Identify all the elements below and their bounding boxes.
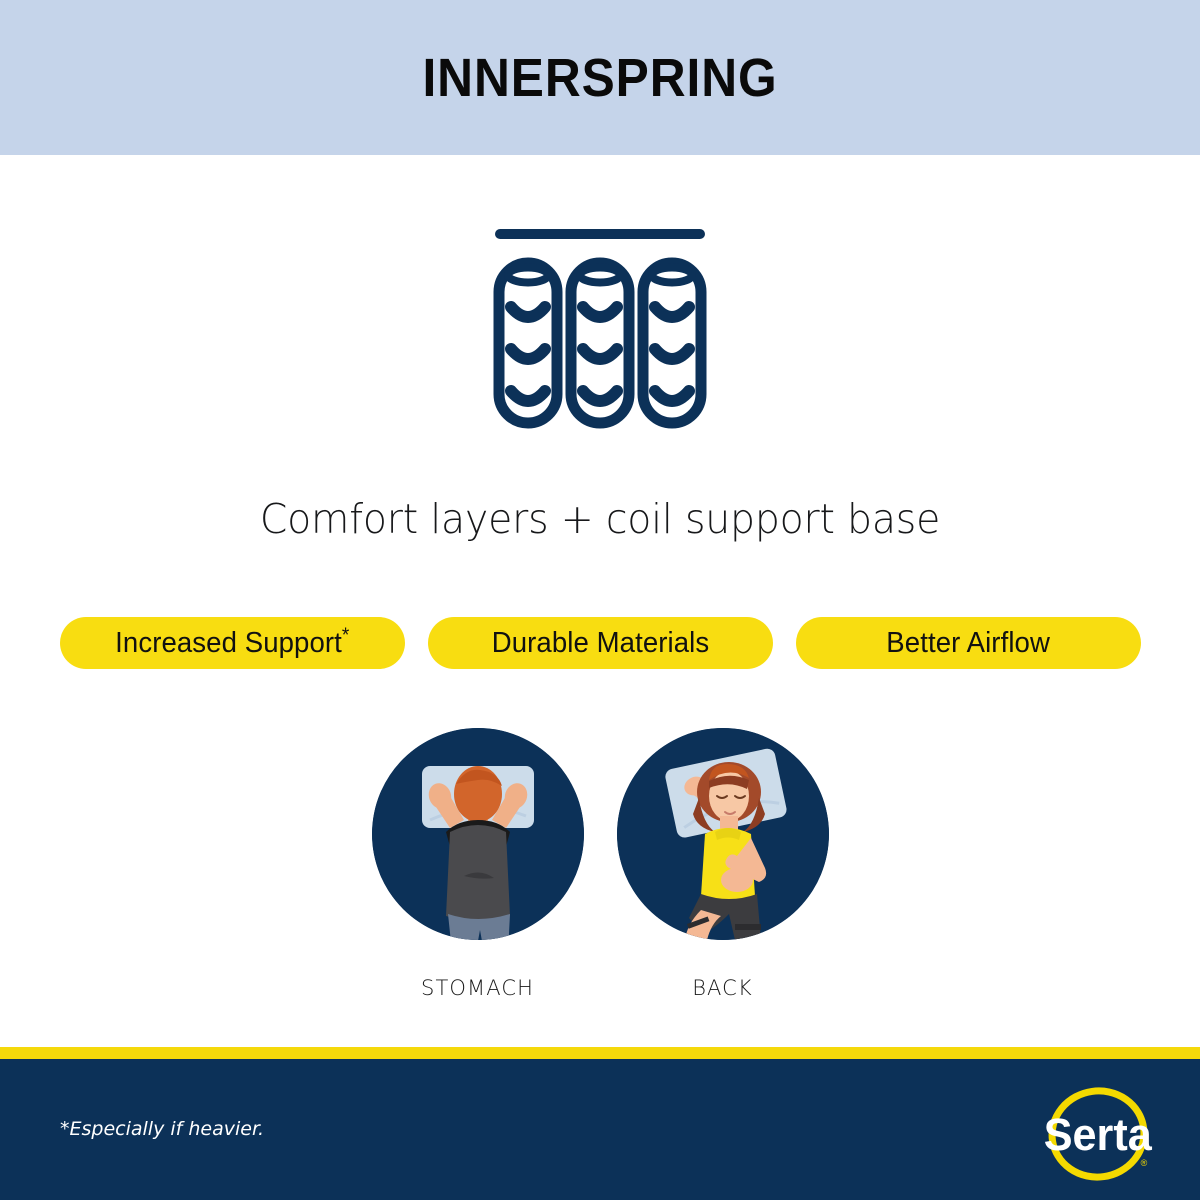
coil-3 [643,263,701,423]
benefit-pill-better-airflow[interactable]: Better Airflow [796,617,1141,669]
sleep-position-back[interactable]: BACK [617,728,829,1000]
footnote-text: *Especially if heavier. [60,1118,264,1140]
back-sleeper-circle [617,728,829,940]
page-title: INNERSPRING [422,47,777,109]
infographic-page: INNERSPRING [0,0,1200,1200]
benefit-pill-label: Durable Materials [491,627,709,660]
coil-2 [571,263,629,423]
sleep-position-stomach[interactable]: STOMACH [372,728,584,1000]
back-sleeper-illustration [617,728,829,940]
coil-stack-icon [485,215,715,435]
comfort-layer-bar [495,229,705,239]
sleep-position-label: BACK [617,976,829,1000]
benefit-pill-label: Better Airflow [886,627,1050,660]
sleep-position-row: STOMACH [0,728,1200,1000]
coil-icon-container [0,215,1200,455]
subtitle: Comfort layers + coil support base [24,495,1176,543]
stomach-sleeper-circle [372,728,584,940]
trademark-symbol: ® [1141,1158,1148,1168]
sleep-position-label: STOMACH [372,976,584,1000]
serta-logo[interactable]: Serta ® [1043,1082,1158,1187]
coil-1 [499,263,557,423]
benefit-pill-label: Increased Support* [115,627,349,660]
serta-logo-mark: Serta ® [1043,1082,1158,1187]
stomach-sleeper-illustration [372,728,584,940]
benefit-pill-row: Increased Support* Durable Materials Bet… [0,617,1200,669]
footnote-marker: * [342,624,349,646]
benefit-pill-increased-support[interactable]: Increased Support* [60,617,405,669]
benefit-pill-durable-materials[interactable]: Durable Materials [428,617,773,669]
footer-accent-bar [0,1047,1200,1059]
serta-wordmark: Serta [1044,1110,1152,1160]
header-banner: INNERSPRING [0,0,1200,155]
